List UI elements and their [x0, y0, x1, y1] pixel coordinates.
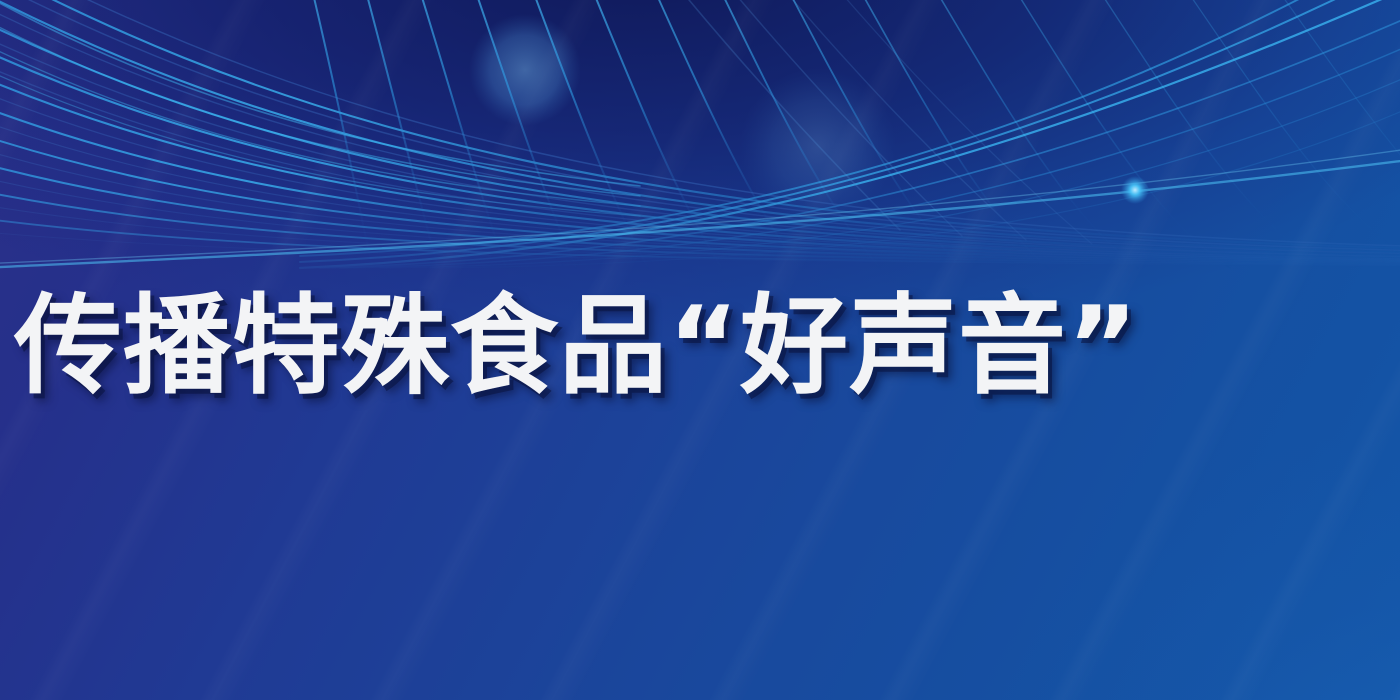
mesh-family-sweep [0, 0, 1400, 266]
accent-dot [1121, 176, 1149, 204]
glow-circles [469, 14, 896, 224]
banner-root: 传播特殊食品“好声音” [0, 0, 1400, 700]
title-container: 传播特殊食品“好声音” [0, 272, 1400, 422]
banner-title: 传播特殊食品“好声音” [14, 292, 1139, 402]
